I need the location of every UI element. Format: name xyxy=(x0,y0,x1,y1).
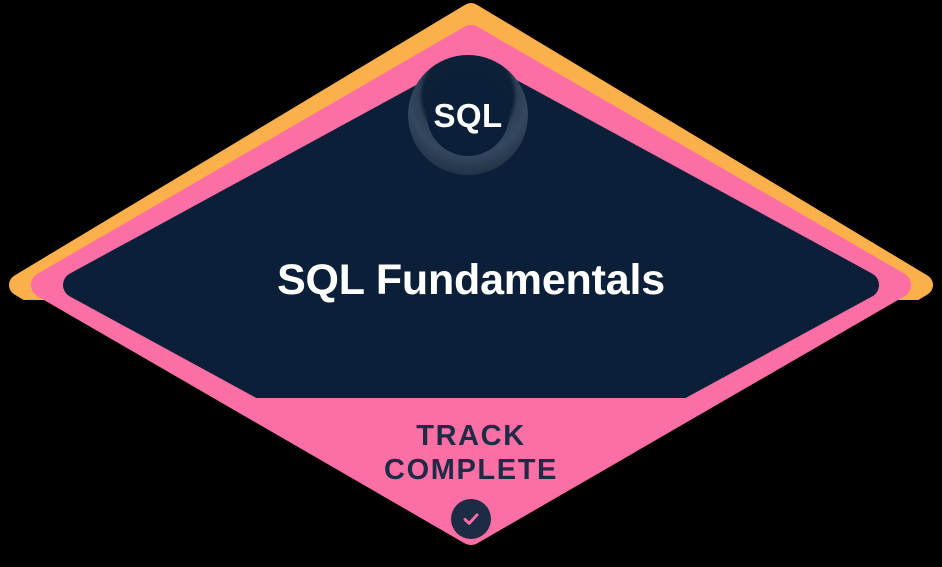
sql-emblem-inner-disc: SQL xyxy=(427,74,509,156)
track-title: SQL Fundamentals xyxy=(0,256,942,305)
sql-circle-emblem-icon: SQL xyxy=(408,55,528,175)
badge-root: SQL SQL Fundamentals TRACK COMPLETE xyxy=(0,0,942,567)
status-line-track: TRACK xyxy=(0,419,942,453)
sql-emblem-label: SQL xyxy=(433,99,502,132)
status-line-complete: COMPLETE xyxy=(0,453,942,487)
check-mark-icon xyxy=(451,499,491,539)
track-status-block: TRACK COMPLETE xyxy=(0,419,942,539)
